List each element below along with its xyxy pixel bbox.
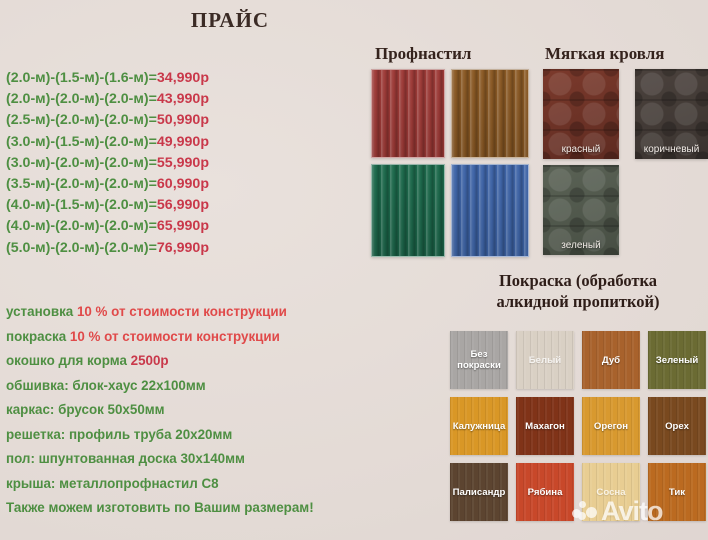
price-amount: 43,990р: [157, 91, 209, 107]
spec-highlight: 2500р: [131, 353, 169, 368]
paint-swatch: Без покраски: [450, 331, 508, 389]
price-dimensions: (2.5-м)-(2.0-м)-(2.0-м)=: [6, 112, 157, 128]
spec-row: обшивка: блок-хаус 22х100мм: [6, 374, 356, 399]
paint-swatch: Орех: [648, 397, 706, 455]
paint-swatch: Орегон: [582, 397, 640, 455]
paint-swatch: Дуб: [582, 331, 640, 389]
paint-swatch: Рябина: [516, 463, 574, 521]
price-row: (4.0-м)-(2.0-м)-(2.0-м)=65,990р: [6, 216, 306, 237]
price-row: (4.0-м)-(1.5-м)-(2.0-м)=56,990р: [6, 195, 306, 216]
profnastil-panel-green: [371, 164, 445, 257]
spec-label: Также можем изготовить по Вашим размерам…: [6, 500, 314, 515]
paint-swatch-label: Без покраски: [456, 349, 502, 371]
spec-label: установка: [6, 304, 77, 319]
spec-row: окошко для корма 2500р: [6, 349, 356, 374]
paint-swatch-label: Белый: [528, 355, 562, 366]
soft-roof-tile-label: коричневый: [635, 144, 708, 155]
soft-roof-tile-brown: коричневый: [635, 69, 708, 159]
page-title: ПРАЙС: [170, 8, 290, 33]
paint-swatch-label: Орех: [664, 421, 690, 432]
price-list: (2.0-м)-(1.5-м)-(1.6-м)=34,990р(2.0-м)-(…: [6, 68, 306, 259]
spec-label: покраска: [6, 329, 70, 344]
spec-label: обшивка: блок-хаус 22х100мм: [6, 378, 206, 393]
avito-watermark: Avito: [572, 498, 663, 525]
price-amount: 49,990р: [157, 134, 209, 150]
paint-heading-line2: алкидной пропиткой): [452, 291, 704, 312]
price-amount: 50,990р: [157, 112, 209, 128]
spec-label: каркас: брусок 50х50мм: [6, 402, 165, 417]
soft-roof-tile-green: зеленый: [543, 165, 619, 255]
price-amount: 76,990р: [157, 240, 209, 256]
paint-swatch: Калужница: [450, 397, 508, 455]
price-row: (2.0-м)-(2.0-м)-(2.0-м)=43,990р: [6, 89, 306, 110]
spec-row: каркас: брусок 50х50мм: [6, 398, 356, 423]
spec-label: решетка: профиль труба 20х20мм: [6, 427, 232, 442]
soft-roof-tile-label: красный: [543, 144, 619, 155]
soft-roof-heading: Мягкая кровля: [545, 44, 664, 64]
paint-heading-line1: Покраска (обработка: [452, 270, 704, 291]
price-row: (2.0-м)-(1.5-м)-(1.6-м)=34,990р: [6, 68, 306, 89]
profnastil-heading: Профнастил: [375, 44, 471, 64]
price-dimensions: (4.0-м)-(1.5-м)-(2.0-м)=: [6, 197, 157, 213]
price-amount: 34,990р: [157, 70, 209, 86]
corrugation-pattern: [452, 165, 528, 256]
corrugation-pattern: [372, 165, 444, 256]
price-dimensions: (2.0-м)-(1.5-м)-(1.6-м)=: [6, 70, 157, 86]
price-amount: 56,990р: [157, 197, 209, 213]
price-dimensions: (4.0-м)-(2.0-м)-(2.0-м)=: [6, 218, 157, 234]
spec-row: Также можем изготовить по Вашим размерам…: [6, 496, 356, 521]
paint-swatch: Палисандр: [450, 463, 508, 521]
price-dimensions: (3.5-м)-(2.0-м)-(2.0-м)=: [6, 176, 157, 192]
spec-row: пол: шпунтованная доска 30х140мм: [6, 447, 356, 472]
price-amount: 60,990р: [157, 176, 209, 192]
soft-roof-tile-label: зеленый: [543, 240, 619, 251]
spec-label: крыша: металлопрофнастил С8: [6, 476, 219, 491]
spec-highlight: 10 % от стоимости конструкции: [77, 304, 287, 319]
corrugation-pattern: [452, 70, 528, 157]
spec-row: решетка: профиль труба 20х20мм: [6, 423, 356, 448]
avito-wordmark: Avito: [601, 498, 663, 525]
price-dimensions: (3.0-м)-(2.0-м)-(2.0-м)=: [6, 155, 157, 171]
paint-heading: Покраска (обработка алкидной пропиткой): [452, 270, 704, 312]
paint-swatch-label: Махагон: [524, 421, 566, 432]
price-row: (2.5-м)-(2.0-м)-(2.0-м)=50,990р: [6, 110, 306, 131]
price-board: ПРАЙС (2.0-м)-(1.5-м)-(1.6-м)=34,990р(2.…: [0, 0, 708, 540]
price-dimensions: (5.0-м)-(2.0-м)-(2.0-м)=: [6, 240, 157, 256]
paint-swatch-label: Калужница: [452, 421, 507, 432]
profnastil-panel-brown: [451, 69, 529, 158]
paint-swatch: Зеленый: [648, 331, 706, 389]
paint-swatch-grid: Без покраскиБелыйДубЗеленыйКалужницаМаха…: [450, 331, 706, 521]
paint-swatch-label: Зеленый: [655, 355, 700, 366]
spec-highlight: 10 % от стоимости конструкции: [70, 329, 280, 344]
spec-row: крыша: металлопрофнастил С8: [6, 472, 356, 497]
paint-swatch: Белый: [516, 331, 574, 389]
price-row: (5.0-м)-(2.0-м)-(2.0-м)=76,990р: [6, 238, 306, 259]
spec-row: покраска 10 % от стоимости конструкции: [6, 325, 356, 350]
profnastil-panel-blue: [451, 164, 529, 257]
paint-swatch-label: Тик: [668, 487, 686, 498]
price-amount: 65,990р: [157, 218, 209, 234]
profnastil-panel-red: [371, 69, 445, 158]
price-amount: 55,990р: [157, 155, 209, 171]
paint-swatch-label: Палисандр: [452, 487, 507, 498]
paint-swatch-label: Рябина: [527, 487, 564, 498]
soft-roof-tile-red: красный: [543, 69, 619, 159]
avito-dots-icon: [572, 501, 598, 523]
price-row: (3.0-м)-(2.0-м)-(2.0-м)=55,990р: [6, 153, 306, 174]
price-dimensions: (3.0-м)-(1.5-м)-(2.0-м)=: [6, 134, 157, 150]
paint-swatch-label: Дуб: [601, 355, 621, 366]
spec-label: пол: шпунтованная доска 30х140мм: [6, 451, 245, 466]
paint-swatch: Махагон: [516, 397, 574, 455]
price-row: (3.0-м)-(1.5-м)-(2.0-м)=49,990р: [6, 132, 306, 153]
price-row: (3.5-м)-(2.0-м)-(2.0-м)=60,990р: [6, 174, 306, 195]
paint-swatch-label: Орегон: [593, 421, 629, 432]
spec-list: установка 10 % от стоимости конструкциип…: [6, 300, 356, 521]
corrugation-pattern: [372, 70, 444, 157]
spec-label: окошко для корма: [6, 353, 131, 368]
spec-row: установка 10 % от стоимости конструкции: [6, 300, 356, 325]
price-dimensions: (2.0-м)-(2.0-м)-(2.0-м)=: [6, 91, 157, 107]
